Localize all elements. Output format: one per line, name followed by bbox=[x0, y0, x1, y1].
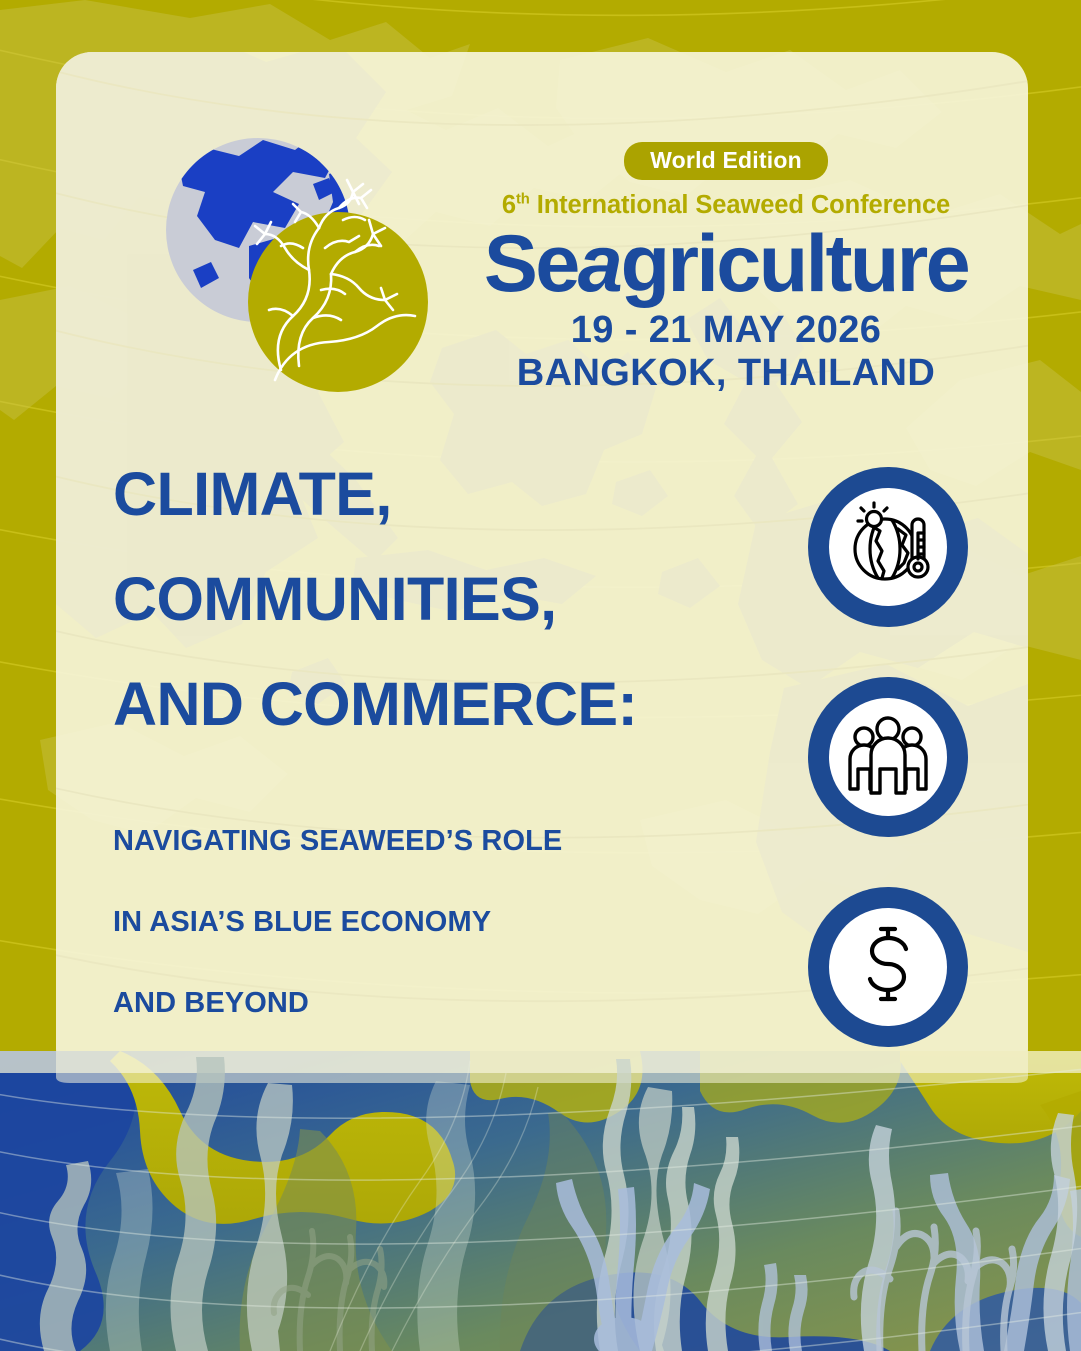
conference-subtitle: 6th International Seaweed Conference bbox=[446, 193, 1006, 219]
theme-icon-column bbox=[808, 467, 988, 1047]
climate-icon-badge bbox=[808, 467, 968, 627]
headline-block: CLIMATE, COMMUNITIES, AND COMMERCE: bbox=[113, 464, 813, 735]
header-text-block: World Edition 6th International Seaweed … bbox=[446, 142, 1006, 395]
event-date: 19 - 21 MAY 2026 bbox=[446, 309, 1006, 352]
underwater-scene bbox=[0, 1051, 1081, 1351]
event-location: BANGKOK, THAILAND bbox=[446, 352, 1006, 395]
wordmark-a: a bbox=[578, 219, 621, 309]
three-people-icon bbox=[842, 711, 934, 803]
commerce-icon-badge bbox=[808, 887, 968, 1047]
headline-line-1: CLIMATE, bbox=[113, 464, 813, 525]
conference-ordinal: th bbox=[516, 192, 530, 208]
wordmark-se: Se bbox=[484, 219, 578, 309]
subheadline-line-2: IN ASIA’S BLUE ECONOMY bbox=[113, 908, 813, 937]
subheadline-line-1: NAVIGATING SEAWEED’S ROLE bbox=[113, 827, 813, 856]
seagriculture-logo bbox=[153, 130, 433, 395]
poster-header: World Edition 6th International Seaweed … bbox=[56, 52, 1028, 402]
dollar-sign-icon bbox=[844, 923, 932, 1011]
subheadline-line-3: AND BEYOND bbox=[113, 989, 813, 1018]
seaweed-circle bbox=[248, 212, 428, 392]
headline-line-2: COMMUNITIES, bbox=[113, 569, 813, 630]
headline-line-3: AND COMMERCE: bbox=[113, 674, 813, 735]
wordmark-griculture: griculture bbox=[621, 219, 969, 309]
world-edition-badge: World Edition bbox=[624, 142, 828, 180]
content-panel: World Edition 6th International Seaweed … bbox=[56, 52, 1028, 1085]
conference-poster: World Edition 6th International Seaweed … bbox=[0, 0, 1081, 1351]
globe-thermometer-icon bbox=[840, 499, 936, 595]
conference-name: International Seaweed Conference bbox=[530, 191, 950, 219]
conference-number: 6 bbox=[502, 191, 516, 219]
subheadline-block: NAVIGATING SEAWEED’S ROLE IN ASIA’S BLUE… bbox=[113, 827, 813, 1018]
seagriculture-wordmark: Seagriculture bbox=[446, 222, 1006, 307]
communities-icon-badge bbox=[808, 677, 968, 837]
